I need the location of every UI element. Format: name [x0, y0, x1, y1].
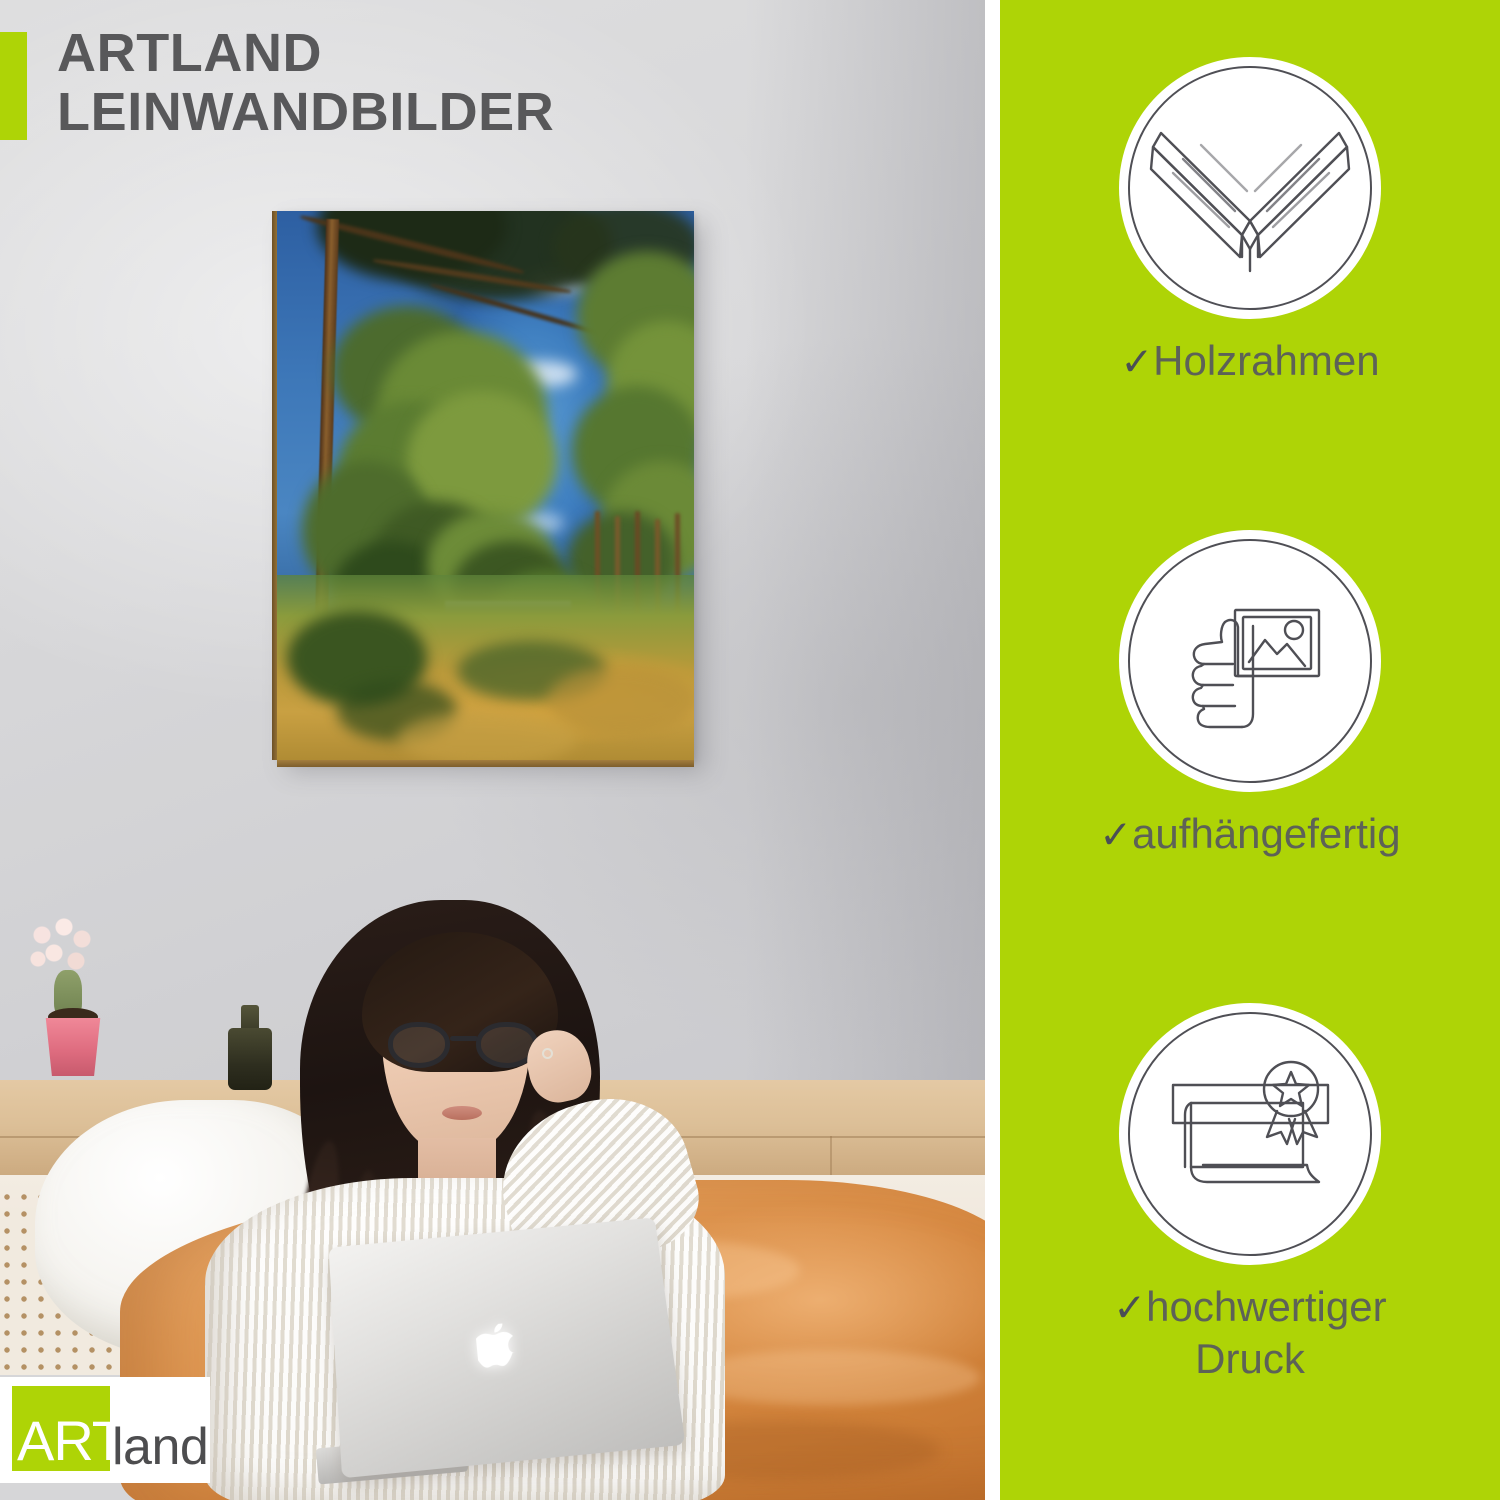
feature-label: ✓Holzrahmen	[1120, 336, 1379, 388]
canvas-artwork	[277, 211, 694, 760]
feature-aufhaengefertig: ✓aufhängefertig	[1000, 530, 1500, 861]
feature-holzrahmen: ✓Holzrahmen	[1000, 57, 1500, 388]
thumbs-up-picture-icon	[1119, 530, 1381, 792]
page-title: ARTLAND LEINWANDBILDER	[57, 24, 554, 142]
painting-surface	[277, 211, 694, 760]
panel-divider	[985, 0, 1000, 1500]
hyacinth-flower	[24, 915, 102, 985]
headline-line-2: LEINWANDBILDER	[57, 83, 554, 142]
feature-text: Holzrahmen	[1153, 337, 1379, 384]
canvas-bottom-edge	[277, 759, 694, 767]
header: ARTLAND LEINWANDBILDER	[0, 0, 985, 175]
ring	[542, 1048, 553, 1059]
pink-plant-pot	[42, 1018, 104, 1076]
feature-text: aufhängefertig	[1132, 810, 1401, 857]
features-panel: ✓Holzrahmen	[1000, 0, 1500, 1500]
feature-label: ✓hochwertiger Druck	[1113, 1282, 1386, 1384]
check-icon: ✓	[1099, 814, 1132, 857]
lifestyle-photo-panel: ARTLAND LEINWANDBILDER ART land	[0, 0, 985, 1500]
printer-award-icon	[1119, 1003, 1381, 1265]
logo-text-land: land	[112, 1421, 208, 1473]
eyeglasses	[388, 1022, 538, 1068]
green-accent-bar	[0, 32, 27, 140]
product-marketing-image: ARTLAND LEINWANDBILDER ART land	[0, 0, 1500, 1500]
check-icon: ✓	[1113, 1287, 1146, 1330]
laptop	[335, 1228, 695, 1500]
apple-logo-icon	[475, 1322, 521, 1374]
feature-text: hochwertiger Druck	[1146, 1283, 1386, 1382]
feature-label: ✓aufhängefertig	[1099, 809, 1400, 861]
wooden-frame-corner-icon	[1119, 57, 1381, 319]
headline-line-1: ARTLAND	[57, 23, 322, 83]
logo-text-art: ART	[17, 1413, 125, 1469]
check-icon: ✓	[1120, 341, 1153, 384]
feature-hochwertiger-druck: ✓hochwertiger Druck	[1000, 1003, 1500, 1384]
lips	[442, 1106, 482, 1120]
artland-logo: ART land	[0, 1377, 210, 1483]
